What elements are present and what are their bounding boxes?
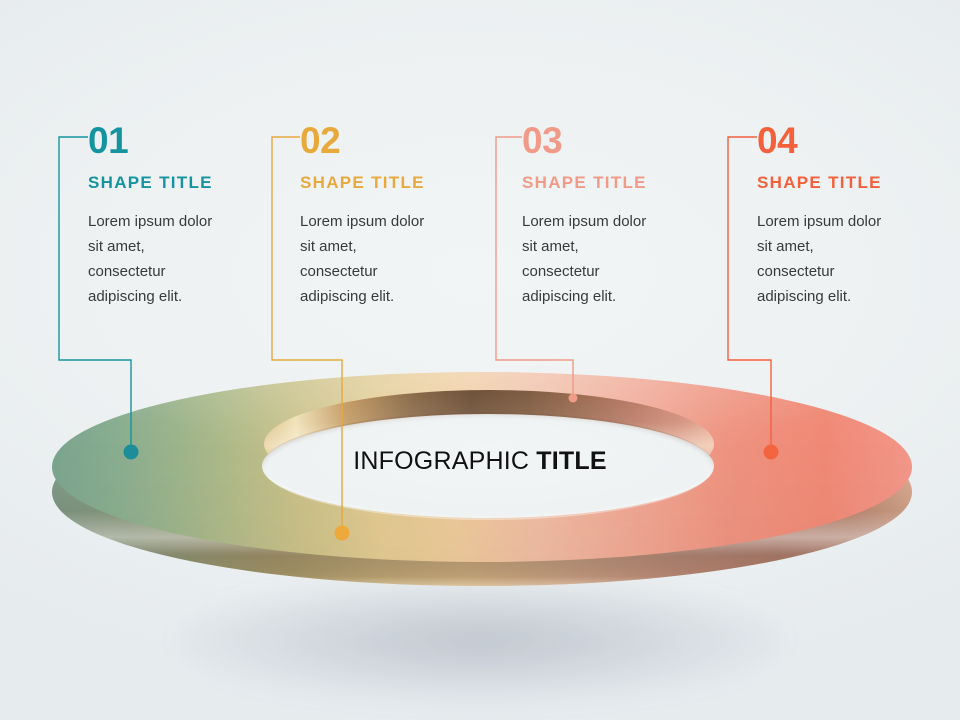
- infographic-slide: INFOGRAPHIC TITLE 01 SHAPE TITLE Lorem i…: [0, 0, 960, 720]
- info-item-01[interactable]: 01 SHAPE TITLE Lorem ipsum dolor sit ame…: [88, 122, 288, 309]
- item-number-02: 02: [300, 122, 500, 159]
- item-title-03: SHAPE TITLE: [522, 173, 722, 193]
- info-item-03[interactable]: 03 SHAPE TITLE Lorem ipsum dolor sit ame…: [522, 122, 722, 309]
- item-title-04: SHAPE TITLE: [757, 173, 957, 193]
- center-title-bold: TITLE: [536, 447, 606, 475]
- item-body-02: Lorem ipsum dolor sit amet, consectetur …: [300, 209, 425, 309]
- center-title: INFOGRAPHIC TITLE: [0, 447, 960, 476]
- item-number-01: 01: [88, 122, 288, 159]
- info-item-04[interactable]: 04 SHAPE TITLE Lorem ipsum dolor sit ame…: [757, 122, 957, 309]
- item-body-03: Lorem ipsum dolor sit amet, consectetur …: [522, 209, 647, 309]
- item-number-04: 04: [757, 122, 957, 159]
- connector-lines: [0, 0, 960, 720]
- item-number-03: 03: [522, 122, 722, 159]
- item-title-01: SHAPE TITLE: [88, 173, 288, 193]
- item-body-04: Lorem ipsum dolor sit amet, consectetur …: [757, 209, 882, 309]
- info-item-02[interactable]: 02 SHAPE TITLE Lorem ipsum dolor sit ame…: [300, 122, 500, 309]
- item-body-01: Lorem ipsum dolor sit amet, consectetur …: [88, 209, 213, 309]
- donut-ring: [52, 372, 912, 602]
- item-title-02: SHAPE TITLE: [300, 173, 500, 193]
- center-title-light: INFOGRAPHIC: [353, 447, 529, 475]
